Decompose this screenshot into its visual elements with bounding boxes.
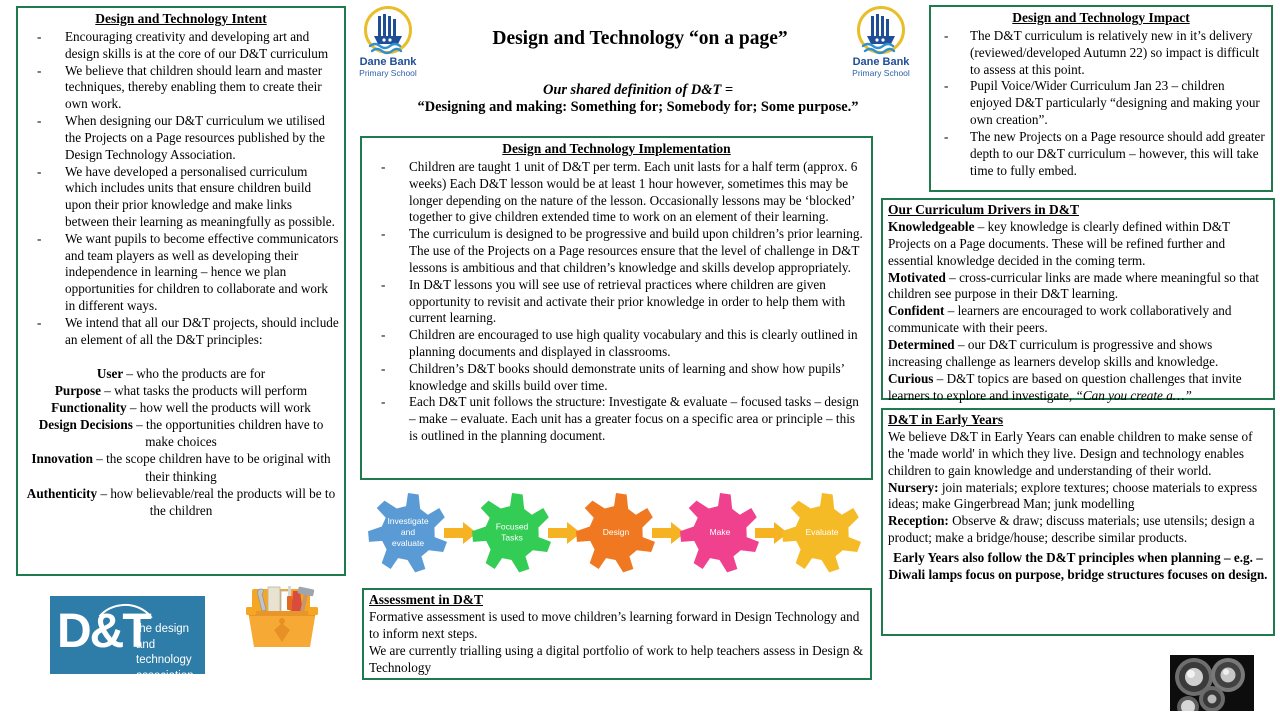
process-step-label: Evaluate — [805, 527, 838, 537]
principle-term: Purpose — [55, 383, 104, 398]
implementation-heading: Design and Technology Implementation — [367, 141, 866, 158]
intent-bullet: Encouraging creativity and developing ar… — [23, 29, 339, 63]
implementation-bullet: In D&T lessons you will see use of retri… — [367, 277, 866, 327]
impact-bullet: The new Projects on a Page resource shou… — [936, 129, 1266, 179]
intent-principle: Innovation – the scope children have to … — [23, 450, 339, 484]
implementation-bullet: Children are taught 1 unit of D&T per te… — [367, 159, 866, 226]
assessment-heading: Assessment in D&T — [369, 592, 865, 609]
principle-term: Authenticity — [27, 486, 101, 501]
impact-bullet-list: The D&T curriculum is relatively new in … — [936, 28, 1266, 179]
principle-definition: – the scope children have to be original… — [96, 451, 330, 483]
intent-principles-list: User – who the products are forPurpose –… — [23, 365, 339, 519]
dta-tagline-line-3: association — [136, 669, 205, 674]
process-arrow-icon — [444, 522, 477, 544]
principle-term: Innovation — [31, 451, 96, 466]
driver-item: Motivated – cross-curricular links are m… — [888, 270, 1268, 304]
intent-bullet: We believe that children should learn an… — [23, 63, 339, 113]
impact-heading: Design and Technology Impact — [936, 10, 1266, 27]
impact-bullet: Pupil Voice/Wider Curriculum Jan 23 – ch… — [936, 78, 1266, 128]
intent-principle: Design Decisions – the opportunities chi… — [23, 416, 339, 450]
driver-item: Determined – our D&T curriculum is progr… — [888, 337, 1268, 371]
intent-principle: User – who the products are for — [23, 365, 339, 382]
process-step-label: Design — [603, 527, 630, 537]
dt-on-a-page: Design and Technology Intent Encouraging… — [0, 0, 1280, 720]
principle-term: Design Decisions — [39, 417, 136, 432]
process-step-4: Make — [680, 493, 759, 572]
intent-heading: Design and Technology Intent — [23, 11, 339, 28]
process-step-label: evaluate — [392, 538, 424, 548]
curriculum-drivers-panel: Our Curriculum Drivers in D&T Knowledgea… — [881, 198, 1275, 400]
early-years-panel: D&T in Early Years We believe D&T in Ear… — [881, 408, 1275, 636]
reception-label: Reception: — [888, 513, 949, 528]
drivers-heading: Our Curriculum Drivers in D&T — [888, 202, 1268, 219]
principle-definition: – who the products are for — [126, 366, 265, 381]
dt-process-flow-diagram: InvestigateandevaluateFocusedTasksDesign… — [360, 486, 873, 582]
implementation-panel: Design and Technology Implementation Chi… — [360, 136, 873, 480]
early-years-reception: Reception: Observe & draw; discuss mater… — [888, 513, 1268, 547]
sailing-ship-crest-icon — [362, 6, 414, 58]
drivers-item-list: Knowledgeable – key knowledge is clearly… — [888, 219, 1268, 405]
driver-term: Motivated — [888, 270, 946, 285]
definition-line-2: “Designing and making: Something for; So… — [350, 99, 926, 116]
implementation-bullet: Children are encouraged to use high qual… — [367, 327, 866, 361]
toolbox-with-tools-icon — [238, 583, 326, 653]
dta-tagline: the design and technology association — [136, 622, 205, 674]
nursery-text: join materials; explore textures; choose… — [888, 480, 1257, 512]
process-arrow-icon — [548, 522, 581, 544]
intent-bullet: We have developed a personalised curricu… — [23, 164, 339, 231]
driver-item: Knowledgeable – key knowledge is clearly… — [888, 219, 1268, 270]
sailing-ship-crest-icon — [855, 6, 907, 58]
process-step-label: Make — [710, 527, 731, 537]
principle-term: Functionality — [51, 400, 130, 415]
driver-term: Knowledgeable — [888, 219, 974, 234]
definition-line-1: Our shared definition of D&T = — [350, 82, 926, 99]
process-step-2: FocusedTasks — [472, 493, 551, 572]
driver-item: Confident – learners are encouraged to w… — [888, 303, 1268, 337]
process-gears-svg: InvestigateandevaluateFocusedTasksDesign… — [360, 486, 873, 582]
page-title: Design and Technology “on a page” — [410, 28, 870, 50]
process-step-1: Investigateandevaluate — [368, 493, 447, 572]
intent-principle: Functionality – how well the products wi… — [23, 399, 339, 416]
intent-bullet: We intend that all our D&T projects, sho… — [23, 315, 339, 349]
early-years-nursery: Nursery: join materials; explore texture… — [888, 480, 1268, 514]
school-subtitle: Primary School — [352, 69, 424, 78]
shared-definition: Our shared definition of D&T = “Designin… — [350, 82, 926, 116]
principle-definition: – the opportunities children have to mak… — [136, 417, 323, 449]
title-area: Design and Technology “on a page” Our sh… — [350, 4, 926, 126]
dta-tagline-line-1: the design — [136, 622, 205, 638]
impact-bullet: The D&T curriculum is relatively new in … — [936, 28, 1266, 78]
school-name: Dane Bank — [352, 57, 424, 69]
school-name: Dane Bank — [845, 57, 917, 69]
implementation-bullet: The curriculum is designed to be progres… — [367, 226, 866, 276]
process-arrow-icon — [652, 522, 685, 544]
assessment-paragraph-2: We are currently trialling using a digit… — [369, 643, 865, 677]
intent-bullet: We want pupils to become effective commu… — [23, 231, 339, 315]
early-years-heading: D&T in Early Years — [888, 412, 1268, 429]
nursery-label: Nursery: — [888, 480, 939, 495]
intent-bullet-list: Encouraging creativity and developing ar… — [23, 29, 339, 349]
school-subtitle: Primary School — [845, 69, 917, 78]
driver-quote: “Can you create a…” — [1075, 388, 1191, 403]
driver-term: Confident — [888, 303, 944, 318]
process-step-label: Tasks — [501, 533, 523, 543]
principle-definition: – how believable/real the products will … — [100, 486, 335, 518]
intent-panel: Design and Technology Intent Encouraging… — [16, 6, 346, 576]
implementation-bullet: Children’s D&T books should demonstrate … — [367, 361, 866, 395]
assessment-paragraph-1: Formative assessment is used to move chi… — [369, 609, 865, 643]
process-step-label: Focused — [496, 522, 529, 532]
intent-principle: Authenticity – how believable/real the p… — [23, 485, 339, 519]
driver-term: Curious — [888, 371, 933, 386]
school-logo-right: Dane Bank Primary School — [845, 6, 917, 82]
process-step-5: Evaluate — [782, 493, 861, 572]
principle-definition: – how well the products will work — [130, 400, 311, 415]
implementation-bullet: Each D&T unit follows the structure: Inv… — [367, 394, 866, 444]
driver-term: Determined — [888, 337, 955, 352]
early-years-closing: Early Years also follow the D&T principl… — [888, 549, 1268, 583]
implementation-bullet-list: Children are taught 1 unit of D&T per te… — [367, 159, 866, 445]
principle-definition: – what tasks the products will perform — [104, 383, 307, 398]
metal-gears-photo — [1170, 655, 1254, 711]
early-years-intro: We believe D&T in Early Years can enable… — [888, 429, 1268, 480]
process-step-3: Design — [576, 493, 655, 572]
dta-tagline-line-2: and technology — [136, 638, 205, 669]
impact-panel: Design and Technology Impact The D&T cur… — [929, 5, 1273, 192]
school-logo-left: Dane Bank Primary School — [352, 6, 424, 82]
driver-item: Curious – D&T topics are based on questi… — [888, 371, 1268, 405]
dt-association-logo: D&T the design and technology associatio… — [50, 596, 205, 674]
assessment-panel: Assessment in D&T Formative assessment i… — [362, 588, 872, 680]
process-step-label: Investigate — [387, 516, 428, 526]
intent-bullet: When designing our D&T curriculum we uti… — [23, 113, 339, 163]
process-step-label: and — [401, 527, 415, 537]
intent-principle: Purpose – what tasks the products will p… — [23, 382, 339, 399]
principle-term: User — [97, 366, 126, 381]
